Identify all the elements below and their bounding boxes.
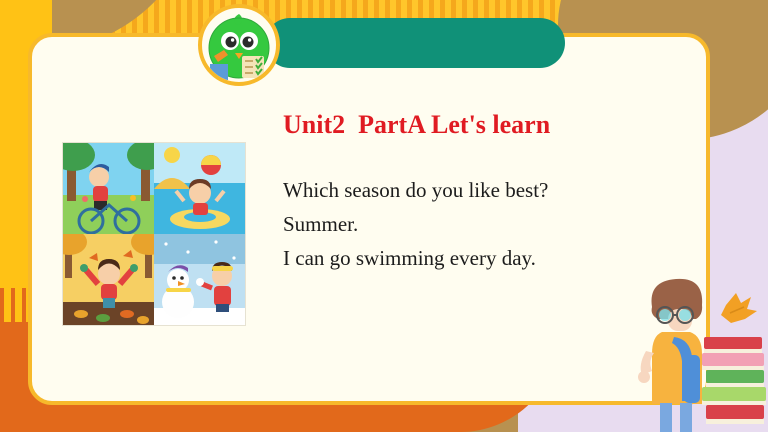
green-bird-mascot-icon — [198, 4, 280, 86]
page-title: Unit2 PartA Let's learn — [283, 110, 550, 140]
four-seasons-grid — [62, 142, 246, 326]
header-banner — [265, 18, 565, 68]
student-with-glasses-icon — [638, 279, 702, 432]
season-panel-winter — [154, 234, 245, 325]
dialogue-line-3: I can go swimming every day. — [283, 241, 548, 275]
season-panel-spring — [63, 143, 154, 234]
student-with-books-illustration — [618, 267, 768, 432]
season-panel-summer — [154, 143, 245, 234]
maple-leaf-icon — [721, 293, 757, 323]
dialogue-line-1: Which season do you like best? — [283, 173, 548, 207]
dialogue-line-2: Summer. — [283, 207, 548, 241]
slide-canvas: Unit2 PartA Let's learn Which season do … — [0, 0, 768, 432]
dialogue-lines: Which season do you like best? Summer. I… — [283, 173, 548, 275]
stacked-books-icon — [702, 337, 766, 424]
season-panel-autumn — [63, 234, 154, 325]
